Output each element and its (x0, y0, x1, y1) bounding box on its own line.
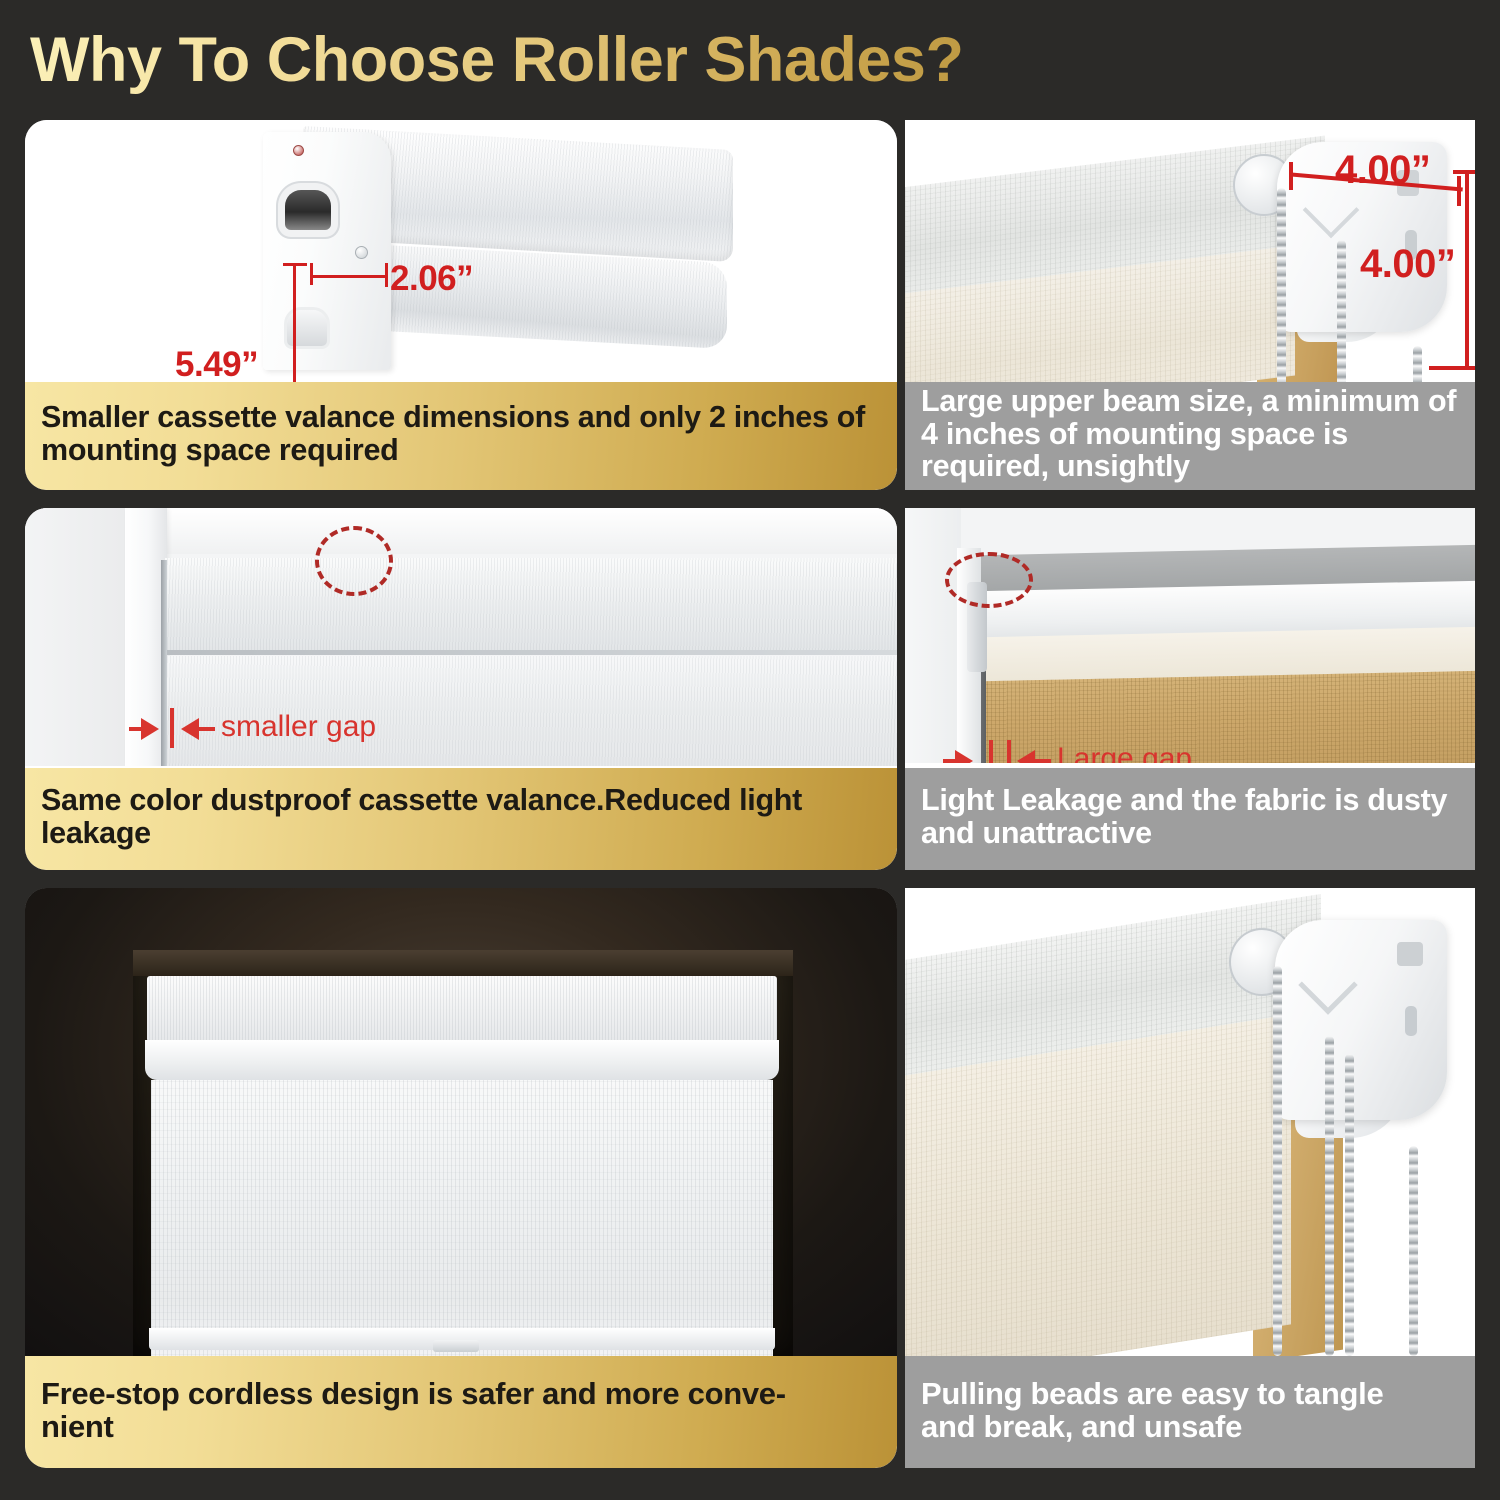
gap-arrow-left-stem (199, 727, 215, 731)
bead-chain-middle-2 (1345, 1054, 1354, 1356)
page-title: Why To Choose Roller Shades? (30, 22, 1130, 98)
cassette-valance-front (165, 558, 897, 650)
gap-arrow-right-stem (129, 727, 145, 731)
room-shade-fabric (151, 1080, 773, 1356)
large-beam-photo: 4.00” 4.00” (905, 120, 1475, 385)
panel-cordless-window: Free-stop cordless design is safer and m… (25, 888, 897, 1468)
cordless-pull-handle (433, 1340, 479, 1352)
end-cap-upper-slot (285, 190, 331, 230)
beam-width-tick-left (1289, 162, 1293, 190)
bead-chain-tail (1413, 346, 1422, 385)
window-wall (25, 508, 133, 766)
smaller-gap-label: smaller gap (221, 710, 376, 744)
cordless-window-photo (25, 888, 897, 1356)
valance-seam-line (163, 650, 897, 655)
beam-height-dimension-line (1465, 170, 1469, 370)
width-dimension-tick-left (310, 263, 313, 285)
large-gap-wall (905, 508, 961, 763)
beads-mounting-bracket (1275, 920, 1447, 1120)
end-cap-screw (355, 246, 368, 259)
caption-bar-cordless: Free-stop cordless design is safer and m… (25, 1356, 897, 1468)
panel-cassette-dimensions: 2.06” 5.49” Smaller cassette valance dim… (25, 120, 897, 490)
caption-text-line2: nient (41, 1410, 881, 1443)
caption-text: Light Leakage and the fabric is dusty an… (921, 784, 1459, 850)
panel-smaller-gap: smaller gap Same color dustproof cassett… (25, 508, 897, 870)
bracket-arrow-icon (1298, 955, 1357, 1014)
beam-height-tick-top (1453, 170, 1475, 174)
highlight-circle-icon (945, 552, 1033, 608)
caption-text: Large upper beam size, a minimum of 4 in… (921, 385, 1459, 484)
caption-bar-cassette-dimensions: Smaller cassette valance dimensions and … (25, 382, 897, 490)
beam-height-tick-bottom (1429, 366, 1475, 370)
height-dimension-tick-top (283, 263, 307, 266)
bracket-notch-lower (1405, 1006, 1417, 1036)
caption-bar-smaller-gap: Same color dustproof cassette valance.Re… (25, 768, 897, 870)
caption-text-line2: and break, and unsafe (921, 1410, 1459, 1443)
caption-bar-large-gap: Light Leakage and the fabric is dusty an… (905, 768, 1475, 870)
panel-large-gap: Large gap Light Leakage and the fabric i… (905, 508, 1475, 870)
shade-left-edge (161, 560, 167, 766)
window-lintel (133, 950, 793, 976)
cassette-valance-illustration (185, 132, 745, 372)
room-cassette-valance (147, 976, 777, 1042)
bead-chain-middle (1325, 1036, 1334, 1356)
caption-text: Smaller cassette valance dimensions and … (41, 401, 881, 467)
pulling-beads-photo (905, 888, 1475, 1356)
bead-chain-left (1277, 188, 1286, 385)
gap-measure-bar (170, 708, 174, 748)
cassette-valance-photo: 2.06” 5.49” (25, 120, 897, 388)
caption-text-line1: Free-stop cordless design is safer and m… (41, 1377, 881, 1410)
caption-text-line1: Pulling beads are easy to tangle (921, 1377, 1459, 1410)
height-dimension-label: 5.49” (175, 345, 258, 385)
gap-arrow-left-stem (1035, 759, 1051, 763)
large-gap-label: Large gap (1057, 742, 1192, 763)
bead-chain-left (1273, 966, 1282, 1356)
bead-chain-right (1337, 240, 1346, 385)
width-dimension-label: 2.06” (390, 259, 473, 299)
bracket-notch-upper (1397, 942, 1423, 966)
panel-large-beam-dimensions: 4.00” 4.00” Large upper beam size, a min… (905, 120, 1475, 490)
caption-bar-large-beam: Large upper beam size, a minimum of 4 in… (905, 382, 1475, 490)
height-dimension-line (293, 263, 296, 388)
panel-pulling-beads: Pulling beads are easy to tangle and bre… (905, 888, 1475, 1468)
caption-bar-pulling-beads: Pulling beads are easy to tangle and bre… (905, 1356, 1475, 1468)
end-cap-top-screw (293, 145, 304, 156)
window-head-trim (125, 508, 897, 554)
gap-arrow-left-icon (1017, 750, 1035, 763)
caption-text: Same color dustproof cassette valance.Re… (41, 784, 881, 850)
gap-arrow-right-stem (943, 759, 959, 763)
beam-width-tick-right (1457, 176, 1461, 206)
gap-arrow-left-icon (181, 718, 199, 740)
room-valance-lip (145, 1040, 779, 1080)
beam-width-dimension-label: 4.00” (1335, 148, 1430, 193)
gap-measure-bar-right (1007, 740, 1011, 763)
bead-chain-right (1409, 1146, 1418, 1356)
width-dimension-line (310, 275, 388, 278)
beads-lower-fabric (905, 1014, 1291, 1356)
cassette-end-cap (263, 132, 391, 370)
beam-height-dimension-label: 4.00” (1360, 242, 1455, 287)
width-dimension-tick-right (385, 263, 388, 287)
large-gap-photo: Large gap (905, 508, 1475, 763)
smaller-gap-photo: smaller gap (25, 508, 897, 766)
gap-measure-bar-left (989, 740, 993, 763)
highlight-circle-icon (315, 526, 393, 596)
